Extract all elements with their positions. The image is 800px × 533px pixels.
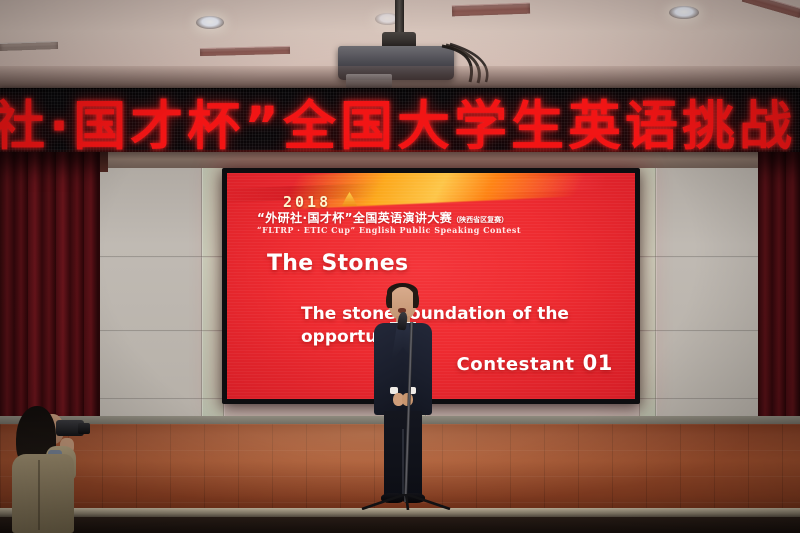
slide-chinese-title: “外研社·国才杯”全国英语演讲大赛（陕西省区复赛）: [257, 209, 597, 226]
slide-speech-subtitle: The stone foundation of the opportunity: [301, 303, 591, 349]
contestant-number: 01: [583, 351, 613, 375]
speaker-hair-left: [386, 292, 392, 308]
projector-mount-rod: [395, 0, 404, 34]
slide-contestant-line: Contestant01: [456, 351, 613, 375]
photo-scene: 社·国才杯”全国大学生英语挑战 2018 “外研社·国才杯”全国英语演讲大赛（陕…: [0, 0, 800, 533]
downlight-icon: [196, 16, 224, 29]
photographer-trench-coat: [12, 454, 74, 533]
photographer-coat-fold: [38, 460, 40, 530]
ceiling-bevel: [0, 66, 800, 90]
slide-chinese-sub: （陕西省区复赛）: [452, 216, 508, 224]
contestant-label: Contestant: [456, 354, 574, 375]
led-banner-text: 社·国才杯”全国大学生英语挑战: [0, 88, 796, 156]
audience-photographer: [8, 398, 94, 533]
microphone-tripod-base: [358, 494, 454, 510]
camera-lens-icon: [78, 423, 90, 434]
acoustic-wall-panel: [92, 168, 202, 424]
slide-chinese-main: “外研社·国才杯”全国英语演讲大赛: [257, 211, 452, 225]
slide-speech-title: The Stones: [267, 251, 408, 276]
wall-top-trim: [0, 152, 800, 168]
speaker-hair-right: [413, 292, 419, 308]
acoustic-wall-panel-green: [202, 168, 224, 424]
acoustic-wall-panel: [638, 168, 656, 424]
red-stage-curtain: [758, 152, 800, 424]
downlight-icon: [669, 6, 699, 19]
led-scrolling-banner: 社·国才杯”全国大学生英语挑战: [0, 88, 800, 156]
slide-english-title: “FLTRP · ETIC Cup” English Public Speaki…: [257, 225, 617, 235]
acoustic-wall-panel: [656, 168, 760, 424]
red-stage-curtain: [0, 152, 100, 424]
